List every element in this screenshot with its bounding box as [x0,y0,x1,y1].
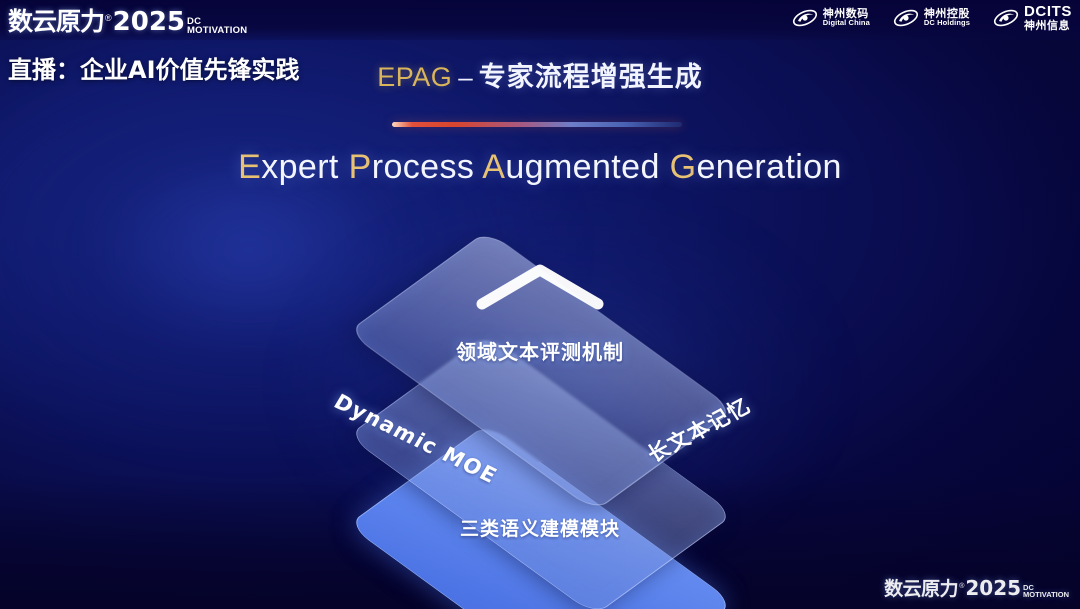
logo-dcits: DCITS 神州信息 [993,4,1072,31]
brand-logo: 数云原力 ® 2025 DC MOTIVATION [8,2,246,41]
english-title-word-3: Augmented [482,148,660,186]
english-title: Expert Process Augmented Generation [0,148,1080,187]
english-title-cap-3: A [482,148,505,186]
digital-china-swirl-icon [792,6,818,30]
page-title-dash: – [452,62,478,92]
layer-label-bottom: 三类语义建模模块 [280,514,800,541]
presentation-slide: 数云原力 ® 2025 DC MOTIVATION 直播：企业AI价值先锋实践 … [0,0,1080,609]
logo-dcits-en: DCITS [1024,4,1072,20]
logo-digital-china: 神州数码 Digital China [792,6,870,30]
dcits-swirl-icon [993,6,1019,30]
logo-dc-holdings: 神州控股 DC Holdings [893,6,970,30]
brand-logo-dc-line2: MOTIVATION [187,26,247,35]
watermark-cn: 数云原力 [884,574,958,601]
logo-dcits-text: DCITS 神州信息 [1024,4,1072,31]
english-title-rest-3: ugmented [505,148,659,186]
watermark-registered: ® [959,583,964,590]
logo-dc-holdings-text: 神州控股 DC Holdings [924,8,970,27]
logo-digital-china-text: 神州数码 Digital China [823,8,870,27]
english-title-cap-1: E [238,148,261,186]
dc-holdings-swirl-icon [893,6,919,30]
english-title-rest-1: xpert [261,148,339,186]
english-title-cap-4: G [670,148,697,186]
page-title: EPAG–专家流程增强生成 [0,55,1080,94]
brand-logo-year: 2025 [113,7,185,37]
english-title-rest-4: eneration [696,148,841,186]
corner-watermark: 数云原力 ® 2025 DC MOTIVATION [884,574,1068,603]
watermark-dc-line2: MOTIVATION [1023,591,1069,598]
watermark-dc-motivation: DC MOTIVATION [1023,584,1069,598]
watermark-year: 2025 [965,576,1021,600]
partner-logos: 神州数码 Digital China 神州控股 DC Holdings [792,4,1072,31]
layer-label-top: 领域文本评测机制 [280,336,800,365]
english-title-word-1: Expert [238,148,339,186]
page-title-acronym: EPAG [377,62,452,92]
brand-logo-registered: ® [105,13,112,23]
english-title-rest-2: rocess [372,148,475,186]
page-title-cn: 专家流程增强生成 [479,62,703,93]
layer-stack-diagram: 领域文本评测机制 Dynamic MOE 长文本记忆 三类语义建模模块 [280,228,800,568]
logo-dcits-cn: 神州信息 [1024,20,1072,32]
english-title-cap-2: P [349,148,372,186]
logo-digital-china-en: Digital China [823,19,870,27]
brand-logo-dc-motivation: DC MOTIVATION [187,17,247,35]
title-divider [392,122,682,127]
logo-dc-holdings-en: DC Holdings [924,19,970,27]
english-title-word-2: Process [349,148,475,186]
brand-logo-cn: 数云原力 [8,2,104,38]
english-title-word-4: Generation [670,148,842,186]
